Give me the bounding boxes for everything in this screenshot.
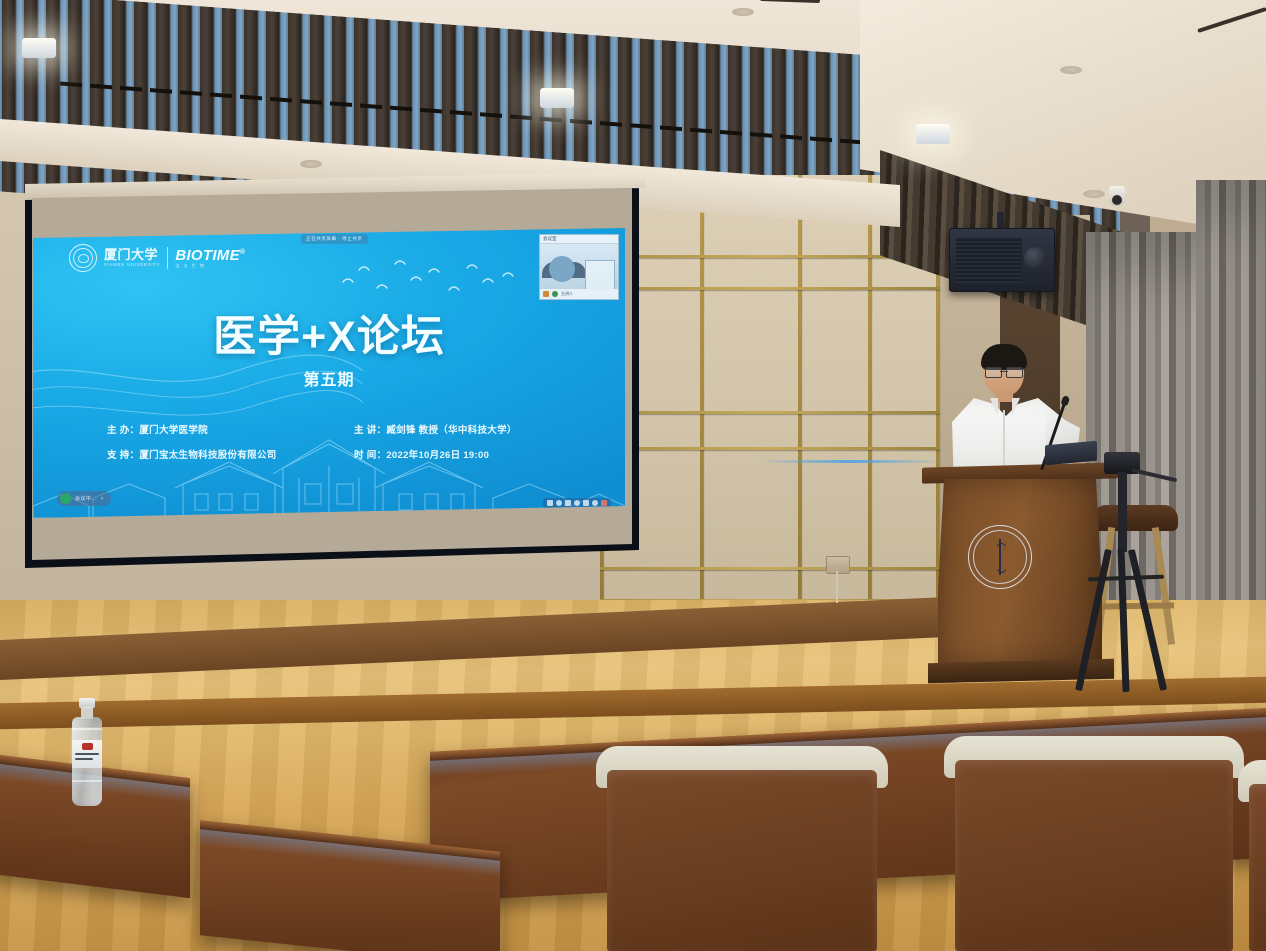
ceiling-downlight (1083, 190, 1105, 198)
pip-video-feed (540, 244, 618, 289)
pip-shared-content (585, 260, 615, 292)
registered-mark-icon: ® (240, 249, 245, 256)
ceiling-spotlight (916, 124, 950, 144)
ceiling-spotlight (540, 88, 574, 108)
wall-light-streak (760, 460, 940, 463)
screen-share-toolbar[interactable]: 正在共享屏幕 · 停止共享 (301, 234, 368, 244)
pip-footer-label: 主讲人 (561, 291, 573, 297)
lecture-hall-photo: 厦门大学 XIAMEN UNIVERSITY BIOTIME® 宝 太 生 物 … (0, 0, 1266, 951)
eyeglasses-icon (985, 367, 1023, 376)
security-camera-icon (1109, 186, 1125, 206)
time-row: 时 间：2022年10月26日 19:00 (354, 447, 577, 461)
ceiling-downlight (300, 160, 322, 168)
sponsor-name-cn: 宝 太 生 物 (175, 264, 245, 268)
host-row: 主 办：厦门大学医学院 (107, 422, 330, 436)
water-bottle (68, 698, 106, 806)
pip-title: 会议室 (540, 235, 618, 244)
wall-outlet (826, 556, 850, 574)
pip-participant-avatar (549, 256, 575, 282)
speaker-row: 主 讲：臧剑锋 教授（华中科技大学） (354, 422, 577, 436)
wall-loudspeaker (949, 228, 1055, 292)
mic-icon[interactable] (556, 500, 562, 506)
university-name-en: XIAMEN UNIVERSITY (104, 263, 160, 267)
leave-meeting-icon[interactable] (601, 500, 607, 506)
medical-school-seal-icon (968, 525, 1032, 589)
logo-divider (167, 247, 168, 269)
meeting-status-widget[interactable]: 会议中... × (57, 491, 111, 506)
video-icon[interactable] (565, 500, 571, 506)
ceiling-downlight (732, 8, 754, 16)
support-row: 支 持：厦门宝太生物科技股份有限公司 (107, 447, 330, 461)
slide-title: 医学+X论坛 (33, 302, 625, 364)
meeting-active-icon (60, 493, 71, 504)
video-conference-pip[interactable]: 会议室 主讲人 (539, 234, 619, 300)
ceiling-downlight (1060, 66, 1082, 74)
slide-logo-lockup: 厦门大学 XIAMEN UNIVERSITY BIOTIME® 宝 太 生 物 (69, 244, 245, 272)
meeting-status-label: 会议中... (75, 495, 97, 502)
audience-chair (944, 736, 1244, 951)
pip-app-icon (543, 291, 549, 297)
chat-icon[interactable] (583, 500, 589, 506)
share-icon[interactable] (592, 500, 598, 506)
sponsor-name: BIOTIME® (175, 248, 245, 263)
participants-icon[interactable] (574, 500, 580, 506)
university-name-cn: 厦门大学 (104, 248, 160, 261)
outlet-cord (836, 571, 838, 603)
camera-tripod (1070, 452, 1180, 692)
slide-details: 主 办：厦门大学医学院 主 讲：臧剑锋 教授（华中科技大学） 支 持：厦门宝太生… (107, 422, 577, 461)
pip-mic-icon (552, 291, 558, 297)
audience-chair (1238, 760, 1266, 951)
close-icon[interactable]: × (101, 496, 104, 502)
menu-icon[interactable] (547, 500, 553, 506)
ceiling-spotlight (22, 38, 56, 58)
xiamen-university-seal-icon (69, 244, 97, 272)
presentation-slide: 厦门大学 XIAMEN UNIVERSITY BIOTIME® 宝 太 生 物 … (33, 228, 625, 518)
slide-subtitle: 第五期 (33, 366, 625, 390)
audience-chair (596, 746, 888, 951)
pip-footer: 主讲人 (540, 289, 618, 299)
